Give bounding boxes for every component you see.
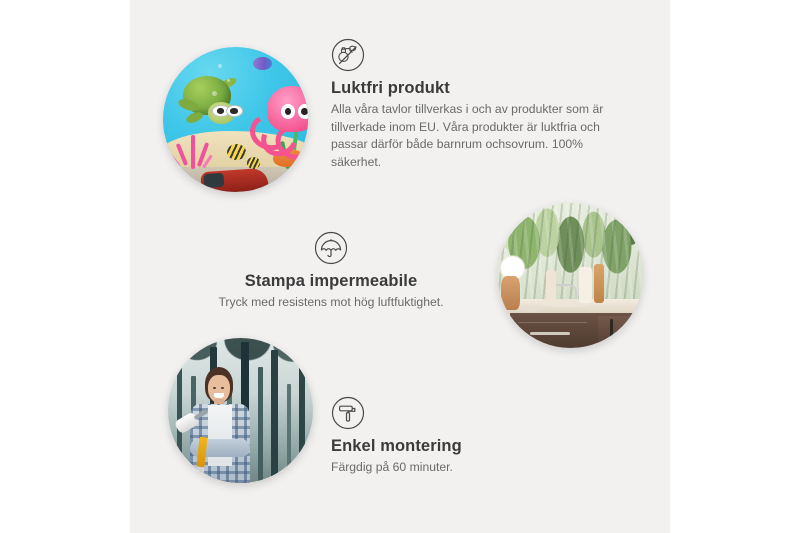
fish-shape-2: [247, 157, 260, 169]
product-feature-infographic: Luktfri produkt Alla våra tavlor tillver…: [0, 0, 800, 533]
feature-description: Tryck med resistens mot hög luftfuktighe…: [196, 294, 466, 312]
feature-title: Luktfri produkt: [331, 79, 623, 98]
feature-text-easy-assembly: Enkel montering Färgdig på 60 minuter.: [331, 396, 591, 477]
feature-text-odour-free: Luktfri produkt Alla våra tavlor tillver…: [331, 38, 623, 171]
fish-shape: [227, 144, 246, 160]
octopus-shape: [253, 86, 308, 150]
fish-shape-3: [253, 57, 272, 70]
feature-description: Alla våra tavlor tillverkas i och av pro…: [331, 101, 623, 171]
feature-description: Färgdig på 60 minuter.: [331, 459, 591, 477]
bottle-shape: [546, 270, 556, 302]
soap-dish-shape: [521, 305, 540, 312]
no-odour-spray-bottle-icon: [331, 38, 365, 72]
feature-text-waterproof: Stampa impermeabile Tryck med resistens …: [196, 231, 466, 312]
coral-shape: [170, 125, 216, 169]
bottle-shape-3: [594, 264, 604, 303]
sunken-boat-shape: [200, 168, 268, 192]
bottle-shape-2: [579, 267, 592, 303]
feature-title: Enkel montering: [331, 437, 591, 456]
turtle-shape: [179, 76, 246, 128]
umbrella-icon: [314, 231, 348, 265]
feature-block-easy-assembly: Enkel montering Färgdig på 60 minuter.: [0, 330, 800, 533]
bathroom-vanity-tropical-wallpaper-photo: [498, 203, 643, 348]
feature-title: Stampa impermeabile: [196, 272, 466, 291]
vase-shape: [501, 276, 520, 311]
underwater-cartoon-scene-photo: [163, 47, 308, 192]
paint-roller-icon: [331, 396, 365, 430]
woman-figure: [180, 367, 264, 483]
woman-with-paint-roller-forest-photo: [168, 338, 313, 483]
feature-block-odour-free: Luktfri produkt Alla våra tavlor tillver…: [0, 0, 800, 205]
